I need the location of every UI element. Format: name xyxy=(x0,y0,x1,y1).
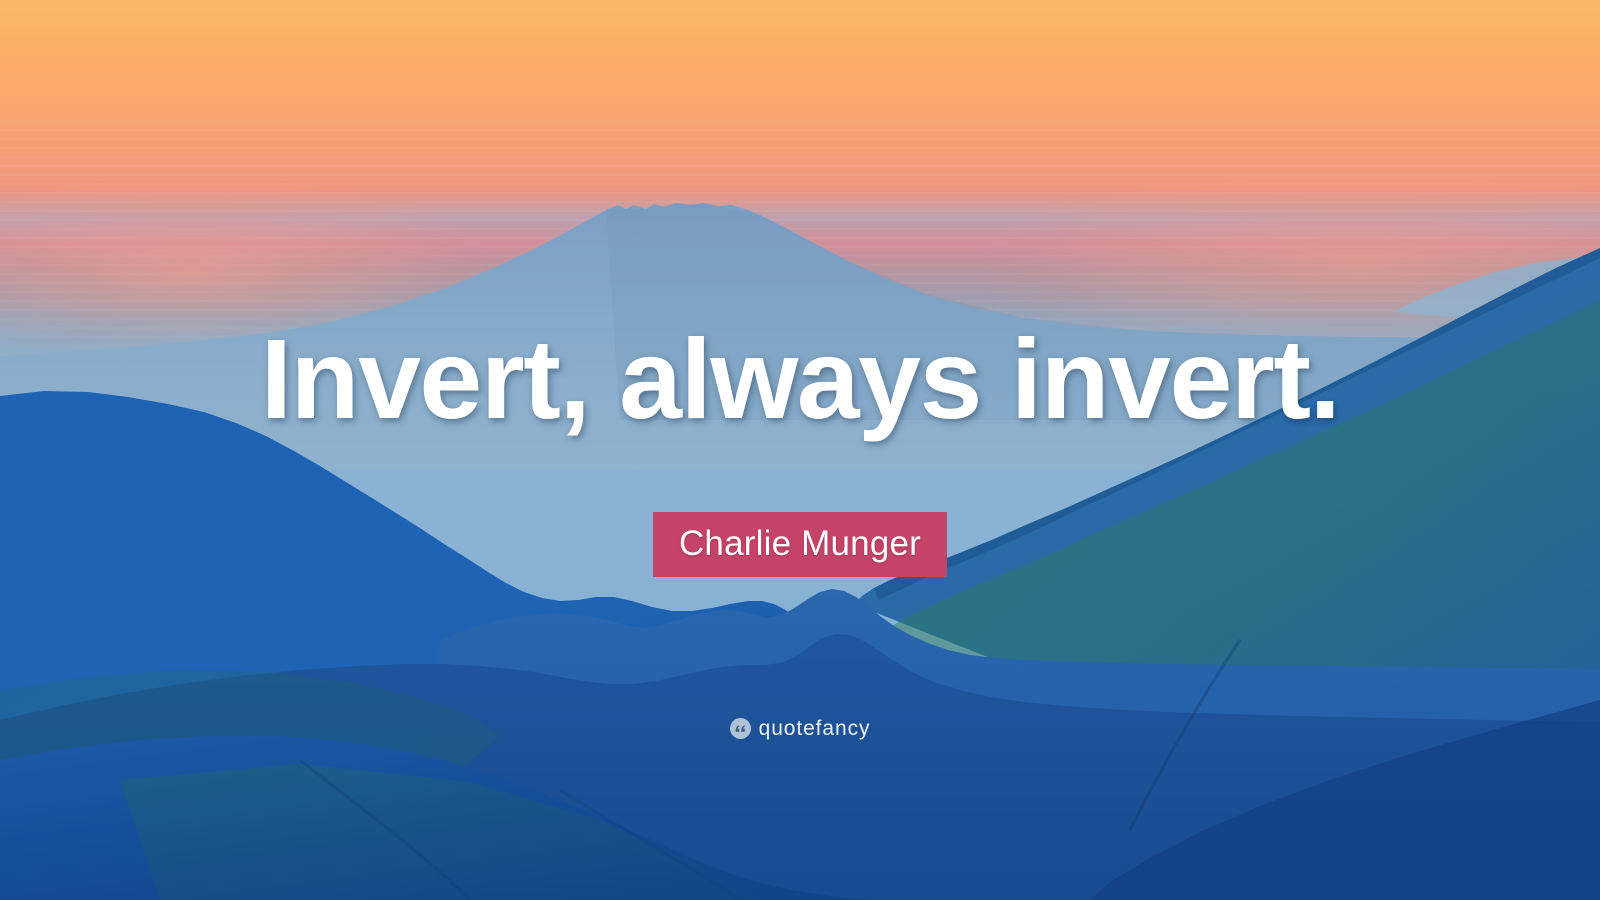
quote-mark-icon xyxy=(730,718,751,739)
quotefancy-watermark[interactable]: quotefancy xyxy=(0,718,1600,739)
author-attribution: Charlie Munger xyxy=(0,512,1600,577)
quote-content: Invert, always invert. Charlie Munger qu… xyxy=(0,0,1600,900)
quote-text: Invert, always invert. xyxy=(0,318,1600,440)
quotefancy-brand-text: quotefancy xyxy=(759,718,871,739)
author-name-banner: Charlie Munger xyxy=(653,512,947,577)
quote-wallpaper: Invert, always invert. Charlie Munger qu… xyxy=(0,0,1600,900)
